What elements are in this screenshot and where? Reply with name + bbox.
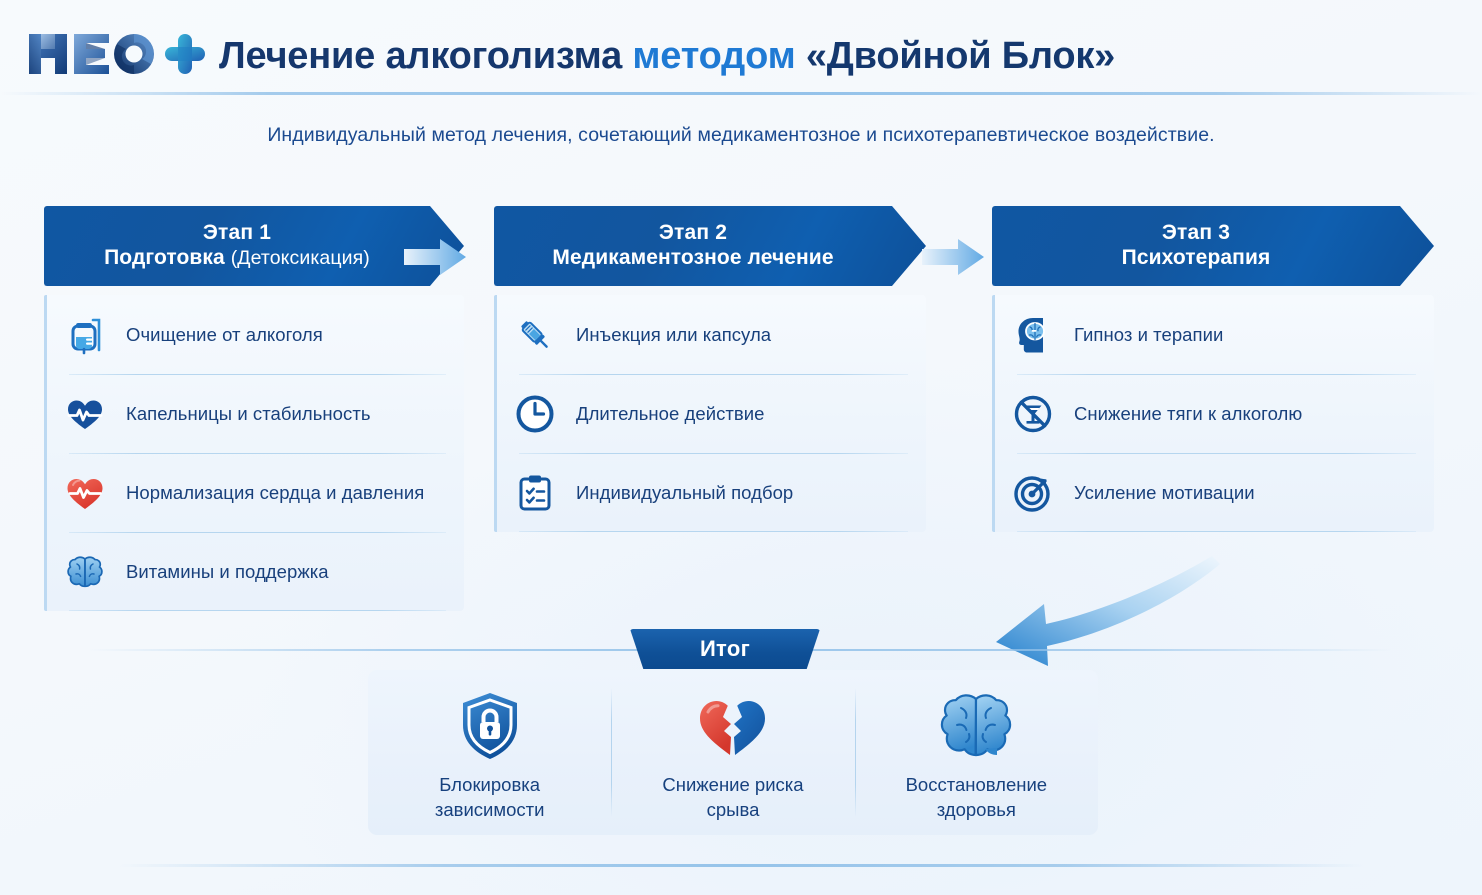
stage-column-1: Этап 1 Подготовка (Детоксикация) [44, 206, 464, 611]
stage-1-panel: Очищение от алкоголя Капельницы и стабил… [44, 295, 464, 611]
list-item-label: Индивидуальный подбор [576, 482, 793, 504]
shield-lock-icon [451, 687, 529, 765]
stage-column-2: Этап 2 Медикаментозное лечение [494, 206, 926, 532]
syringe-icon [511, 311, 559, 359]
result-item: Восстановление здоровья [855, 670, 1098, 835]
result-card: Блокировка зависимости [368, 670, 1098, 835]
stage-3-name: Психотерапия [1122, 246, 1271, 269]
no-alcohol-glass-icon [1009, 390, 1057, 438]
stage-3-header: Этап 3 Психотерапия [992, 206, 1434, 286]
stage-1-name-sub: (Детоксикация) [231, 247, 370, 269]
stage-2-panel: Инъекция или капсула Длительное действие [494, 295, 926, 532]
result-item-label-line2: здоровья [906, 798, 1048, 823]
list-item-label: Гипноз и терапии [1074, 324, 1223, 346]
stage-2-header: Этап 2 Медикаментозное лечение [494, 206, 926, 286]
result-banner: Итог [630, 629, 820, 669]
list-item-label: Витамины и поддержка [126, 561, 329, 583]
list-item-label: Нормализация сердца и давления [126, 482, 424, 504]
list-item-label: Длительное действие [576, 403, 765, 425]
clipboard-checklist-icon [511, 469, 559, 517]
stage-3-panel: Гипноз и терапии Снижение тяги к алкогол… [992, 295, 1434, 532]
brain-icon [933, 687, 1019, 765]
result-banner-label: Итог [630, 629, 820, 669]
page-bottom-divider [0, 864, 1482, 867]
list-item-label: Усиление мотивации [1074, 482, 1255, 504]
list-item: Нормализация сердца и давления [61, 453, 450, 532]
list-item-label: Снижение тяги к алкоголю [1074, 403, 1302, 425]
result-item-label-line2: срыва [662, 798, 803, 823]
stage-1-name: Подготовка [104, 246, 225, 269]
page-title-part1: Лечение алкоголизма [219, 35, 622, 77]
stage-2-name: Медикаментозное лечение [552, 246, 833, 269]
list-item: Инъекция или капсула [511, 295, 912, 374]
neo-plus-logo [27, 28, 207, 80]
result-item: Блокировка зависимости [368, 670, 611, 835]
list-item: Витамины и поддержка [61, 532, 450, 611]
stage-1-header: Этап 1 Подготовка (Детоксикация) [44, 206, 464, 286]
list-item-label: Инъекция или капсула [576, 324, 771, 346]
broken-heart-icon [692, 687, 774, 765]
header-divider [0, 92, 1482, 95]
clock-icon [511, 390, 559, 438]
heart-pulse-red-icon [61, 469, 109, 517]
result-item-label-line1: Блокировка [435, 773, 545, 798]
result-item-label-line2: зависимости [435, 798, 545, 823]
stage-3-number: Этап 3 [1162, 221, 1230, 246]
iv-drip-bag-icon [61, 311, 109, 359]
list-item-label: Капельницы и стабильность [126, 403, 371, 425]
heart-pulse-blue-icon [61, 390, 109, 438]
result-item-label-line1: Снижение риска [662, 773, 803, 798]
result-item: Снижение риска срыва [611, 670, 854, 835]
list-item: Усиление мотивации [1009, 453, 1420, 532]
infographic-page: Лечение алкоголизма методом «Двойной Бло… [0, 0, 1482, 895]
list-item: Капельницы и стабильность [61, 374, 450, 453]
stage-1-number: Этап 1 [203, 221, 271, 246]
list-item: Снижение тяги к алкоголю [1009, 374, 1420, 453]
stage-column-3: Этап 3 Психотерапия Гипноз и терапии [992, 206, 1434, 532]
result-item-label-line1: Восстановление [906, 773, 1048, 798]
page-title-part2: методом [632, 35, 795, 77]
page-header: Лечение алкоголизма методом «Двойной Бло… [0, 0, 1482, 96]
list-item: Длительное действие [511, 374, 912, 453]
page-title: Лечение алкоголизма методом «Двойной Бло… [219, 34, 1115, 78]
page-subtitle: Индивидуальный метод лечения, сочетающий… [0, 124, 1482, 147]
head-brain-icon [1009, 311, 1057, 359]
page-title-part3: «Двойной Блок» [806, 35, 1115, 77]
arrow-right-icon [922, 236, 984, 278]
list-item: Гипноз и терапии [1009, 295, 1420, 374]
list-item: Индивидуальный подбор [511, 453, 912, 532]
stage-2-number: Этап 2 [659, 221, 727, 246]
list-item: Очищение от алкоголя [61, 295, 450, 374]
brain-icon [61, 548, 109, 596]
list-item-label: Очищение от алкоголя [126, 324, 323, 346]
arrow-right-icon [404, 236, 466, 278]
target-arrow-icon [1009, 469, 1057, 517]
